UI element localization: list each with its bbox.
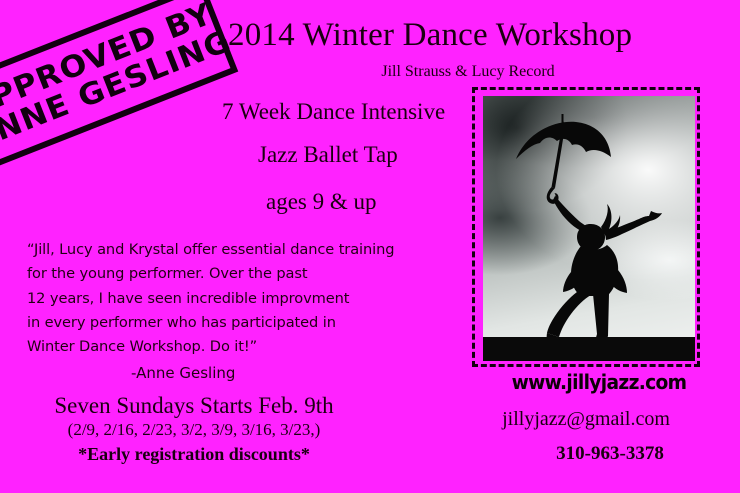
schedule-headline: Seven Sundays Starts Feb. 9th: [14, 393, 374, 419]
dance-workshop-flyer: APPROVED BY ANNE GESLING 2014 Winter Dan…: [0, 0, 740, 493]
schedule-block: Seven Sundays Starts Feb. 9th (2/9, 2/16…: [14, 393, 374, 467]
testimonial-line-4: in every performer who has participated …: [27, 311, 447, 335]
dancer-photo: [483, 96, 695, 361]
early-registration-note: *Early registration discounts*: [14, 442, 374, 466]
approval-stamp: APPROVED BY ANNE GESLING: [0, 0, 238, 170]
testimonial-line-1: “Jill, Lucy and Krystal offer essential …: [27, 238, 447, 262]
ground-band: [483, 337, 695, 361]
instructors-byline: Jill Strauss & Lucy Record: [228, 63, 708, 81]
testimonial-line-2: for the young performer. Over the past: [27, 262, 447, 286]
phone-text: 310-963-3378: [490, 443, 730, 465]
testimonial-line-3: 12 years, I have seen incredible improvm…: [27, 287, 447, 311]
testimonial-quote: “Jill, Lucy and Krystal offer essential …: [27, 238, 447, 359]
program-length-line: 7 Week Dance Intensive: [222, 99, 445, 125]
dance-styles-line: Jazz Ballet Tap: [258, 142, 398, 168]
age-range-line: ages 9 & up: [266, 189, 377, 215]
website-text: www.jillyjazz.com: [506, 370, 692, 394]
schedule-dates: (2/9, 2/16, 2/23, 3/2, 3/9, 3/16, 3/23,): [14, 419, 374, 442]
testimonial-line-5: Winter Dance Workshop. Do it!”: [27, 335, 447, 359]
email-text: jillyjazz@gmail.com: [466, 408, 706, 431]
testimonial-attribution: -Anne Gesling: [131, 364, 235, 382]
dancer-silhouette-icon: [483, 96, 695, 361]
page-title: 2014 Winter Dance Workshop: [228, 18, 708, 53]
